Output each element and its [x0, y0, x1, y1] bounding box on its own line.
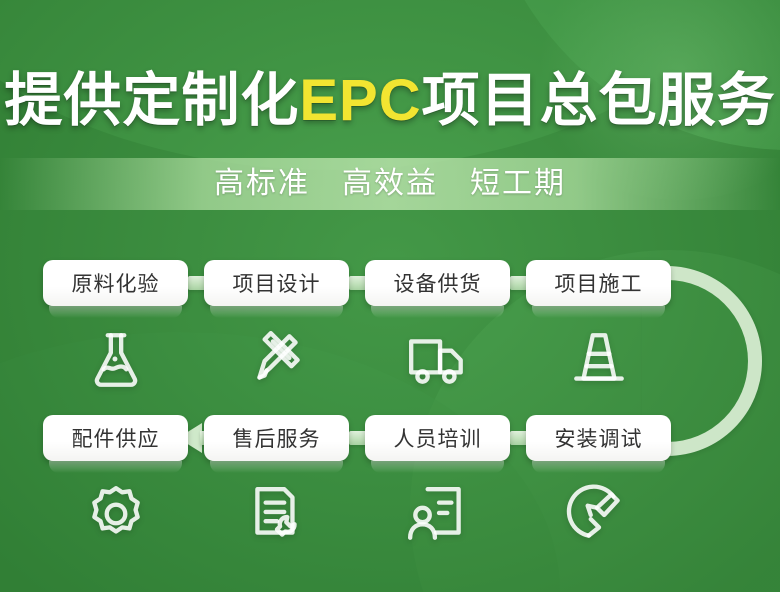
node-label: 设备供货	[394, 268, 482, 298]
chip-reflection	[371, 461, 504, 473]
flow-node-after-sales-service[interactable]: 售后服务	[204, 415, 349, 555]
epc-process-flow: 原料化验 项目设计	[0, 250, 780, 592]
flow-node-personnel-training[interactable]: 人员培训	[365, 415, 510, 555]
headline-part-3: 项目总包服务	[422, 68, 776, 133]
chip-reflection	[532, 461, 665, 473]
headline-part-1: 提供定制化	[4, 68, 299, 133]
node-label: 人员培训	[394, 423, 482, 453]
flow-node-project-design[interactable]: 项目设计	[204, 260, 349, 400]
flow-node-installation-commissioning[interactable]: 安装调试	[526, 415, 671, 555]
chip-reflection	[371, 306, 504, 318]
headline-accent-epc: EPC	[299, 68, 421, 133]
pencil-ruler-icon	[204, 320, 349, 400]
node-chip[interactable]: 设备供货	[365, 260, 510, 306]
node-chip[interactable]: 安装调试	[526, 415, 671, 461]
epc-service-banner: 提供定制化EPC项目总包服务 高标准高效益短工期 原料化验	[0, 0, 780, 592]
node-label: 项目设计	[233, 268, 321, 298]
circular-wrench-icon	[526, 475, 671, 555]
node-chip[interactable]: 项目设计	[204, 260, 349, 306]
flask-icon	[43, 320, 188, 400]
node-chip[interactable]: 配件供应	[43, 415, 188, 461]
subtitle-word-3: 短工期	[470, 167, 566, 200]
node-label: 售后服务	[233, 423, 321, 453]
gear-icon	[43, 475, 188, 555]
chip-reflection	[49, 461, 182, 473]
node-chip[interactable]: 项目施工	[526, 260, 671, 306]
node-label: 安装调试	[555, 423, 643, 453]
banner-subtitle: 高标准高效益短工期	[0, 160, 780, 208]
node-label: 配件供应	[72, 423, 160, 453]
node-chip[interactable]: 人员培训	[365, 415, 510, 461]
flow-node-equipment-supply[interactable]: 设备供货	[365, 260, 510, 400]
flow-node-raw-material-test[interactable]: 原料化验	[43, 260, 188, 400]
document-wrench-icon	[204, 475, 349, 555]
banner-headline: 提供定制化EPC项目总包服务	[0, 72, 780, 130]
chip-reflection	[210, 461, 343, 473]
person-certificate-icon	[365, 475, 510, 555]
node-chip[interactable]: 售后服务	[204, 415, 349, 461]
node-chip[interactable]: 原料化验	[43, 260, 188, 306]
delivery-truck-icon	[365, 320, 510, 400]
flow-node-parts-supply[interactable]: 配件供应	[43, 415, 188, 555]
node-label: 原料化验	[72, 268, 160, 298]
chip-reflection	[210, 306, 343, 318]
subtitle-word-2: 高效益	[342, 167, 438, 200]
flow-row-2: 配件供应 售后服务	[0, 415, 780, 585]
chip-reflection	[49, 306, 182, 318]
subtitle-word-1: 高标准	[214, 167, 310, 200]
node-label: 项目施工	[555, 268, 643, 298]
